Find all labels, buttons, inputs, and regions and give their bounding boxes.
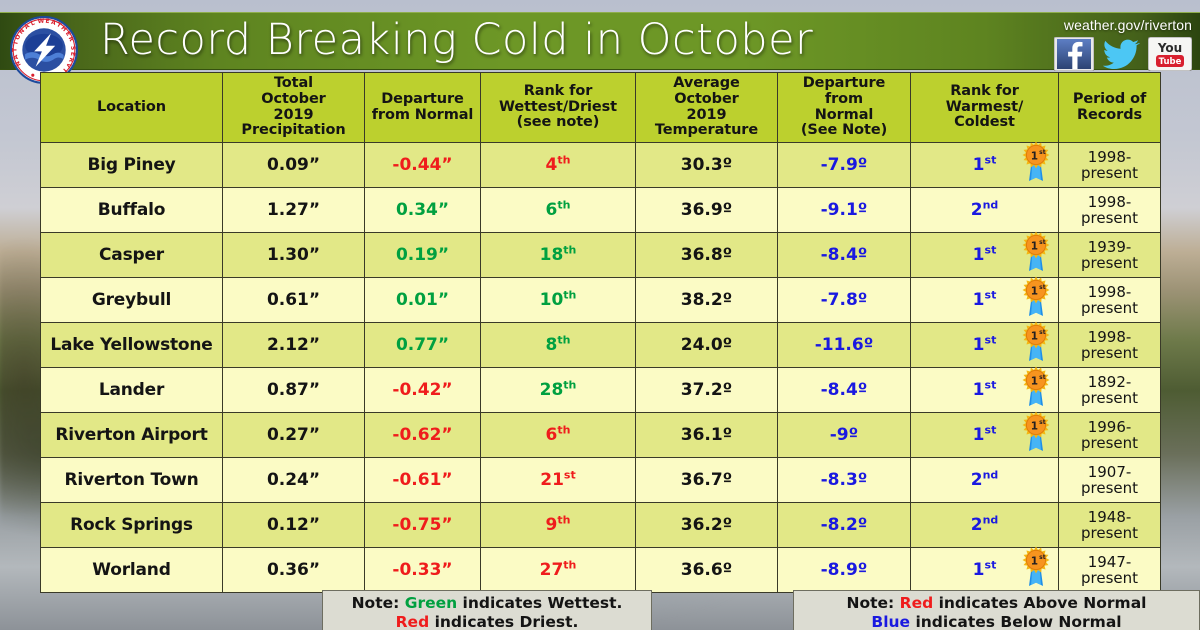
cell-location: Riverton Town (41, 458, 223, 503)
cell-period-of-records: 1947- present (1059, 548, 1161, 593)
cell-total-precipitation: 0.61” (223, 278, 365, 323)
cell-location: Lander (41, 368, 223, 413)
cell-precip-departure: 0.19” (365, 233, 481, 278)
period-from: 1948- (1062, 509, 1157, 525)
temp-rank-wrapper: 1st 1 st (914, 336, 1055, 354)
cell-period-of-records: 1998- present (1059, 143, 1161, 188)
col-header-precip-rank: Rank for Wettest/Driest (see note) (481, 73, 636, 143)
note-precip-line-1: Note: Green indicates Wettest. (333, 594, 641, 613)
note-temp-line-1: Note: Red indicates Above Normal (804, 594, 1189, 613)
cell-precip-departure: 0.34” (365, 188, 481, 233)
cell-average-temperature: 37.2º (636, 368, 778, 413)
cell-location: Buffalo (41, 188, 223, 233)
cell-precip-departure: -0.61” (365, 458, 481, 503)
cell-temp-departure: -7.8º (778, 278, 911, 323)
cell-precip-rank: 18th (481, 233, 636, 278)
cell-location: Riverton Airport (41, 413, 223, 458)
period-to: present (1062, 345, 1157, 361)
cell-location: Greybull (41, 278, 223, 323)
note-temperature-legend: Note: Red indicates Above Normal Blue in… (793, 590, 1200, 630)
svg-text:W: W (37, 17, 45, 25)
first-place-medal-icon: 1 st (1019, 320, 1053, 364)
cell-precip-rank: 6th (481, 188, 636, 233)
cell-average-temperature: 36.1º (636, 413, 778, 458)
cell-period-of-records: 1998- present (1059, 278, 1161, 323)
period-from: 1996- (1062, 419, 1157, 435)
cell-total-precipitation: 2.12” (223, 323, 365, 368)
note-temp-keyword-blue: Blue (871, 613, 910, 630)
page-title: Record Breaking Cold in October (100, 15, 813, 65)
temp-rank-value: 1st (973, 381, 997, 399)
cell-temp-rank: 1st 1 st (911, 278, 1059, 323)
cell-precip-rank: 28th (481, 368, 636, 413)
temp-rank-value: 2nd (971, 516, 999, 534)
cell-total-precipitation: 1.27” (223, 188, 365, 233)
cell-precip-rank: 10th (481, 278, 636, 323)
note-precip-keyword-green: Green (405, 594, 457, 612)
col-header-location: Location (41, 73, 223, 143)
cell-temp-departure: -9º (778, 413, 911, 458)
first-place-medal-icon: 1 st (1019, 275, 1053, 319)
facebook-icon[interactable] (1054, 37, 1094, 71)
table-row: Buffalo 1.27” 0.34” 6th 36.9º -9.1º 2nd … (41, 188, 1161, 233)
cell-location: Worland (41, 548, 223, 593)
temp-rank-value: 1st (973, 246, 997, 264)
period-to: present (1062, 570, 1157, 586)
cell-period-of-records: 1998- present (1059, 323, 1161, 368)
cell-average-temperature: 30.3º (636, 143, 778, 188)
cell-temp-departure: -8.3º (778, 458, 911, 503)
cell-period-of-records: 1892- present (1059, 368, 1161, 413)
svg-text:1: 1 (1031, 555, 1038, 567)
temp-rank-value: 1st (973, 156, 997, 174)
note-precipitation-legend: Note: Green indicates Wettest. Red indic… (322, 590, 652, 630)
note-temp-keyword-red: Red (900, 594, 934, 612)
period-to: present (1062, 210, 1157, 226)
cell-precip-departure: -0.62” (365, 413, 481, 458)
cell-precip-rank: 8th (481, 323, 636, 368)
period-from: 1892- (1062, 374, 1157, 390)
cell-total-precipitation: 0.24” (223, 458, 365, 503)
temp-rank-value: 1st (973, 291, 997, 309)
svg-text:S: S (69, 46, 76, 51)
cell-temp-rank: 1st 1 st (911, 233, 1059, 278)
table-row: Big Piney 0.09” -0.44” 4th 30.3º -7.9º 1… (41, 143, 1161, 188)
svg-text:E: E (45, 18, 50, 25)
title-bar: N A T I O N A L W E A T H E R S E R V I (0, 12, 1200, 70)
period-from: 1947- (1062, 554, 1157, 570)
temp-rank-wrapper: 2nd (914, 471, 1055, 489)
table-row: Greybull 0.61” 0.01” 10th 38.2º -7.8º 1s… (41, 278, 1161, 323)
cell-temp-rank: 1st 1 st (911, 323, 1059, 368)
table-row: Riverton Town 0.24” -0.61” 21st 36.7º -8… (41, 458, 1161, 503)
col-header-temp-departure: Departure from Normal (See Note) (778, 73, 911, 143)
cell-location: Big Piney (41, 143, 223, 188)
temp-rank-value: 1st (973, 561, 997, 579)
table-row: Worland 0.36” -0.33” 27th 36.6º -8.9º 1s… (41, 548, 1161, 593)
cell-temp-rank: 1st 1 st (911, 548, 1059, 593)
period-from: 1907- (1062, 464, 1157, 480)
svg-text:1: 1 (1031, 420, 1038, 432)
cell-average-temperature: 24.0º (636, 323, 778, 368)
col-header-precip-departure: Departure from Normal (365, 73, 481, 143)
cell-total-precipitation: 0.27” (223, 413, 365, 458)
svg-text:st: st (1039, 149, 1046, 156)
cell-precip-departure: 0.01” (365, 278, 481, 323)
temp-rank-wrapper: 1st 1 st (914, 426, 1055, 444)
svg-text:You: You (1157, 41, 1182, 55)
cell-precip-rank: 9th (481, 503, 636, 548)
cell-temp-departure: -8.4º (778, 368, 911, 413)
svg-text:1: 1 (1031, 240, 1038, 252)
temp-rank-wrapper: 2nd (914, 516, 1055, 534)
cell-period-of-records: 1939- present (1059, 233, 1161, 278)
note-precip-suffix-2: indicates Driest. (429, 613, 578, 630)
cell-precip-departure: -0.44” (365, 143, 481, 188)
svg-text:Tube: Tube (1159, 57, 1182, 67)
cell-total-precipitation: 0.87” (223, 368, 365, 413)
cell-period-of-records: 1998- present (1059, 188, 1161, 233)
cell-temp-departure: -11.6º (778, 323, 911, 368)
infographic-page: N A T I O N A L W E A T H E R S E R V I (0, 0, 1200, 630)
table-row: Riverton Airport 0.27” -0.62” 6th 36.1º … (41, 413, 1161, 458)
col-header-period-of-records: Period of Records (1059, 73, 1161, 143)
period-to: present (1062, 480, 1157, 496)
cell-total-precipitation: 1.30” (223, 233, 365, 278)
period-to: present (1062, 255, 1157, 271)
table-row: Lake Yellowstone 2.12” 0.77” 8th 24.0º -… (41, 323, 1161, 368)
svg-text:1: 1 (1031, 375, 1038, 387)
cell-total-precipitation: 0.36” (223, 548, 365, 593)
svg-text:st: st (1039, 329, 1046, 336)
cell-temp-departure: -7.9º (778, 143, 911, 188)
youtube-icon[interactable]: You Tube (1148, 37, 1192, 71)
cell-location: Lake Yellowstone (41, 323, 223, 368)
svg-text:st: st (1039, 554, 1046, 561)
cell-location: Casper (41, 233, 223, 278)
cell-total-precipitation: 0.09” (223, 143, 365, 188)
social-links: You Tube (1054, 37, 1192, 71)
temp-rank-wrapper: 1st 1 st (914, 246, 1055, 264)
period-to: present (1062, 525, 1157, 541)
first-place-medal-icon: 1 st (1019, 410, 1053, 454)
period-to: present (1062, 435, 1157, 451)
period-to: present (1062, 165, 1157, 181)
cell-average-temperature: 36.2º (636, 503, 778, 548)
cell-precip-rank: 27th (481, 548, 636, 593)
svg-text:1: 1 (1031, 330, 1038, 342)
svg-text:st: st (1039, 419, 1046, 426)
note-temp-prefix: Note: (847, 594, 900, 612)
period-from: 1998- (1062, 194, 1157, 210)
period-from: 1998- (1062, 329, 1157, 345)
table-header-row: Location Total October 2019 Precipitatio… (41, 73, 1161, 143)
period-from: 1998- (1062, 149, 1157, 165)
cell-precip-departure: -0.42” (365, 368, 481, 413)
note-precip-prefix: Note: (352, 594, 405, 612)
cell-average-temperature: 36.6º (636, 548, 778, 593)
cell-temp-rank: 1st 1 st (911, 143, 1059, 188)
first-place-medal-icon: 1 st (1019, 230, 1053, 274)
temp-rank-value: 2nd (971, 471, 999, 489)
period-from: 1998- (1062, 284, 1157, 300)
cell-precip-rank: 6th (481, 413, 636, 458)
svg-text:1: 1 (1031, 150, 1038, 162)
note-precip-keyword-red: Red (396, 613, 430, 630)
cell-temp-rank: 2nd (911, 458, 1059, 503)
temp-rank-value: 1st (973, 426, 997, 444)
cell-temp-departure: -8.9º (778, 548, 911, 593)
cell-average-temperature: 38.2º (636, 278, 778, 323)
cell-temp-rank: 1st 1 st (911, 413, 1059, 458)
cell-average-temperature: 36.9º (636, 188, 778, 233)
period-to: present (1062, 390, 1157, 406)
cell-average-temperature: 36.7º (636, 458, 778, 503)
period-from: 1939- (1062, 239, 1157, 255)
cell-period-of-records: 1996- present (1059, 413, 1161, 458)
cell-period-of-records: 1907- present (1059, 458, 1161, 503)
cell-temp-rank: 1st 1 st (911, 368, 1059, 413)
first-place-medal-icon: 1 st (1019, 545, 1053, 589)
cell-temp-rank: 2nd (911, 503, 1059, 548)
note-temp-suffix-2: indicates Below Normal (910, 613, 1122, 630)
table-body: Big Piney 0.09” -0.44” 4th 30.3º -7.9º 1… (41, 143, 1161, 593)
cell-precip-rank: 21st (481, 458, 636, 503)
temp-rank-value: 2nd (971, 201, 999, 219)
svg-text:st: st (1039, 374, 1046, 381)
table-row: Casper 1.30” 0.19” 18th 36.8º -8.4º 1st … (41, 233, 1161, 278)
cell-precip-departure: 0.77” (365, 323, 481, 368)
note-precip-line-2: Red indicates Driest. (333, 613, 641, 630)
cell-temp-departure: -9.1º (778, 188, 911, 233)
records-table-container: Location Total October 2019 Precipitatio… (40, 72, 1160, 593)
cell-temp-rank: 2nd (911, 188, 1059, 233)
cell-average-temperature: 36.8º (636, 233, 778, 278)
svg-text:st: st (1039, 284, 1046, 291)
period-to: present (1062, 300, 1157, 316)
cell-precip-rank: 4th (481, 143, 636, 188)
temp-rank-wrapper: 1st 1 st (914, 291, 1055, 309)
cell-period-of-records: 1948- present (1059, 503, 1161, 548)
cell-total-precipitation: 0.12” (223, 503, 365, 548)
cell-precip-departure: -0.75” (365, 503, 481, 548)
cell-temp-departure: -8.2º (778, 503, 911, 548)
cell-location: Rock Springs (41, 503, 223, 548)
first-place-medal-icon: 1 st (1019, 140, 1053, 184)
note-temp-line-2: Blue indicates Below Normal (804, 613, 1189, 630)
temp-rank-value: 1st (973, 336, 997, 354)
note-precip-suffix-1: indicates Wettest. (457, 594, 622, 612)
temp-rank-wrapper: 1st 1 st (914, 156, 1055, 174)
note-temp-suffix-1: indicates Above Normal (933, 594, 1146, 612)
cell-temp-departure: -8.4º (778, 233, 911, 278)
temp-rank-wrapper: 1st 1 st (914, 381, 1055, 399)
col-header-temp-rank: Rank for Warmest/ Coldest (911, 73, 1059, 143)
col-header-average-temperature: Average October 2019 Temperature (636, 73, 778, 143)
first-place-medal-icon: 1 st (1019, 365, 1053, 409)
records-table: Location Total October 2019 Precipitatio… (40, 72, 1161, 593)
temp-rank-wrapper: 1st 1 st (914, 561, 1055, 579)
svg-text:1: 1 (1031, 285, 1038, 297)
website-address: weather.gov/riverton (1064, 17, 1192, 33)
table-row: Rock Springs 0.12” -0.75” 9th 36.2º -8.2… (41, 503, 1161, 548)
table-row: Lander 0.87” -0.42” 28th 37.2º -8.4º 1st… (41, 368, 1161, 413)
svg-text:st: st (1039, 239, 1046, 246)
twitter-icon[interactable] (1102, 38, 1140, 70)
col-header-total-precipitation: Total October 2019 Precipitation (223, 73, 365, 143)
temp-rank-wrapper: 2nd (914, 201, 1055, 219)
cell-precip-departure: -0.33” (365, 548, 481, 593)
